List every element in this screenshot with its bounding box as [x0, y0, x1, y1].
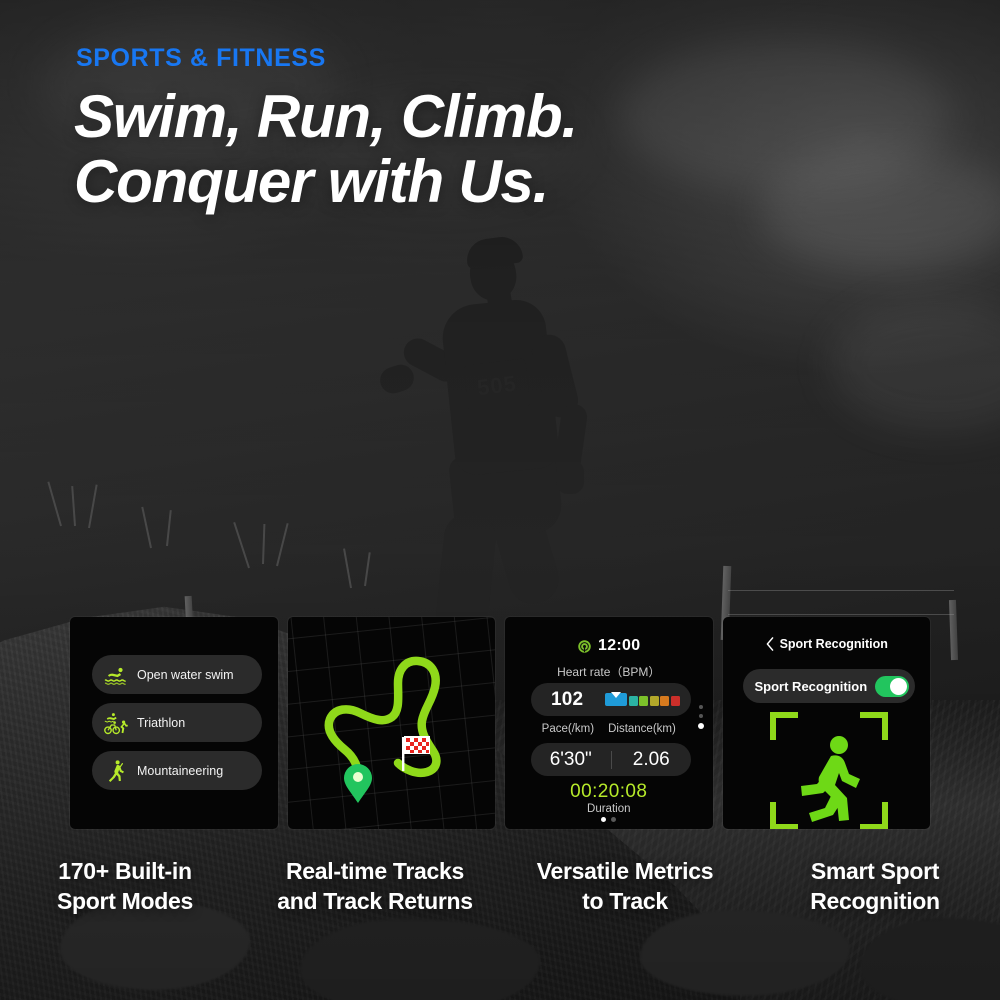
sport-mode-list: Open water swim Triathlon: [92, 655, 262, 790]
swimmer-icon: [104, 663, 128, 687]
heart-rate-value: 102: [551, 689, 583, 711]
checkered-flag-icon: [402, 736, 430, 771]
route-map[interactable]: [288, 617, 496, 829]
card-sport-modes: Open water swim Triathlon: [70, 617, 278, 829]
location-pin-icon: [344, 764, 372, 803]
caption-line-1: 170+ Built-in: [0, 856, 250, 886]
screen-title: Sport Recognition: [780, 637, 888, 651]
headline-line-2: Conquer with Us.: [74, 150, 577, 215]
sport-recognition-toggle-row[interactable]: Sport Recognition: [743, 669, 915, 703]
sport-mode-triathlon[interactable]: Triathlon: [92, 703, 262, 742]
pace-distance-pill[interactable]: 6'30" 2.06: [531, 743, 691, 776]
mountaineering-icon: [104, 759, 128, 783]
card-sport-recognition: Sport Recognition Sport Recognition: [723, 617, 931, 829]
caption-line-2: and Track Returns: [250, 886, 500, 916]
duration-value: 00:20:08: [505, 781, 713, 803]
page-indicator[interactable]: [505, 817, 713, 822]
sport-mode-mountaineering[interactable]: Mountaineering: [92, 751, 262, 790]
caption-line-2: Recognition: [750, 886, 1000, 916]
caption-smart-sport-recognition: Smart Sport Recognition: [750, 856, 1000, 917]
vertical-scroll-indicator[interactable]: [698, 705, 704, 729]
route-markers: [288, 617, 496, 829]
pace-distance-captions: Pace(/km) Distance(km): [505, 723, 713, 735]
sport-mode-label: Mountaineering: [137, 764, 223, 778]
caption-line-1: Smart Sport: [750, 856, 1000, 886]
chevron-left-icon[interactable]: [765, 637, 775, 651]
caption-line-1: Real-time Tracks: [250, 856, 500, 886]
feature-cards: Open water swim Triathlon: [70, 617, 930, 829]
running-person-icon: [801, 736, 860, 822]
toggle-label: Sport Recognition: [755, 679, 868, 694]
heart-rate-pill[interactable]: 102: [531, 683, 691, 716]
toggle-switch[interactable]: [875, 676, 909, 697]
caption-line-2: to Track: [500, 886, 750, 916]
sport-mode-label: Open water swim: [137, 668, 234, 682]
poster: 505 SPORTS & FITNESS Swim, Run, Climb. C…: [0, 0, 1000, 1000]
sport-mode-open-water-swim[interactable]: Open water swim: [92, 655, 262, 694]
screen-header: Sport Recognition: [723, 637, 931, 651]
pace-value: 6'30": [531, 749, 611, 771]
heart-rate-caption: Heart rate（BPM）: [505, 663, 713, 680]
pace-caption: Pace(/km): [542, 723, 594, 735]
metrics-time: 12:00: [598, 637, 640, 655]
page-title: Swim, Run, Climb. Conquer with Us.: [74, 85, 577, 215]
card-workout-metrics: 12:00 Heart rate（BPM） 102: [505, 617, 713, 829]
caption-sport-modes: 170+ Built-in Sport Modes: [0, 856, 250, 917]
sport-mode-label: Triathlon: [137, 716, 185, 730]
heart-rate-zone-bar: [605, 693, 680, 706]
zone-marker-icon: [611, 692, 621, 698]
caption-line-1: Versatile Metrics: [500, 856, 750, 886]
duration-caption: Duration: [505, 803, 713, 815]
recognition-preview: [769, 711, 889, 829]
eyebrow-label: SPORTS & FITNESS: [76, 46, 577, 71]
distance-caption: Distance(km): [608, 723, 676, 735]
caption-versatile-metrics: Versatile Metrics to Track: [500, 856, 750, 917]
gps-signal-icon: [577, 639, 592, 654]
caption-real-time-tracks: Real-time Tracks and Track Returns: [250, 856, 500, 917]
metrics-status-bar: 12:00: [505, 637, 713, 655]
headline-line-1: Swim, Run, Climb.: [74, 85, 577, 150]
header: SPORTS & FITNESS Swim, Run, Climb. Conqu…: [74, 46, 577, 215]
caption-row: 170+ Built-in Sport Modes Real-time Trac…: [0, 856, 1000, 917]
triathlon-icon: [104, 711, 128, 735]
card-route-track: [288, 617, 496, 829]
distance-value: 2.06: [612, 749, 692, 771]
caption-line-2: Sport Modes: [0, 886, 250, 916]
